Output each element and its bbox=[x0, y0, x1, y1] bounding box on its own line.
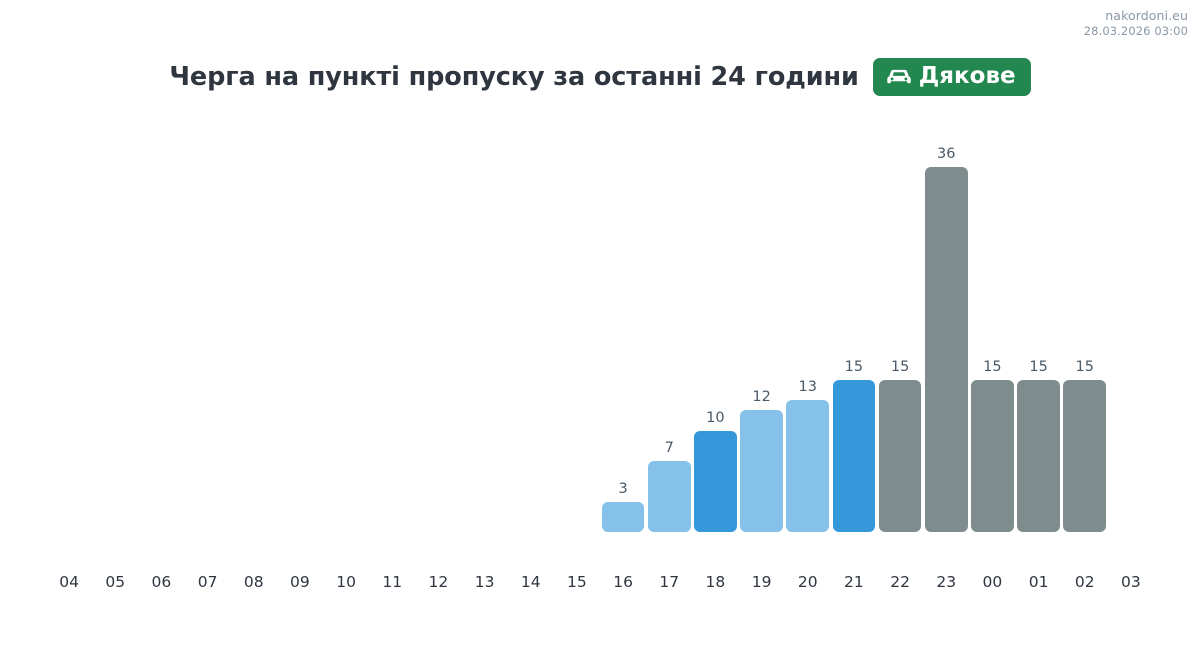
x-axis-tick: 22 bbox=[877, 570, 923, 594]
bar[interactable] bbox=[1063, 380, 1106, 532]
x-axis-tick: 04 bbox=[46, 570, 92, 594]
bar-slot-empty bbox=[92, 132, 138, 532]
bar-slot[interactable]: 36 bbox=[923, 132, 969, 532]
bar-slot-empty bbox=[554, 132, 600, 532]
bar-slot-empty bbox=[138, 132, 184, 532]
checkpoint-badge[interactable]: Дякове bbox=[873, 58, 1031, 96]
x-axis-tick: 10 bbox=[323, 570, 369, 594]
x-axis-tick: 02 bbox=[1062, 570, 1108, 594]
checkpoint-name: Дякове bbox=[919, 65, 1016, 88]
bar[interactable] bbox=[971, 380, 1014, 532]
bar-slot-empty bbox=[231, 132, 277, 532]
bar[interactable] bbox=[1017, 380, 1060, 532]
bar-slot-empty bbox=[323, 132, 369, 532]
bar-slot[interactable]: 15 bbox=[969, 132, 1015, 532]
x-axis-tick: 17 bbox=[646, 570, 692, 594]
x-axis-tick: 14 bbox=[508, 570, 554, 594]
page-title: Черга на пункті пропуску за останні 24 г… bbox=[169, 62, 858, 92]
bar[interactable] bbox=[740, 410, 783, 532]
bar-slot-empty bbox=[46, 132, 92, 532]
bar-value-label: 15 bbox=[1076, 360, 1094, 375]
x-axis-tick: 23 bbox=[923, 570, 969, 594]
bar-slot[interactable]: 3 bbox=[600, 132, 646, 532]
x-axis-tick: 18 bbox=[692, 570, 738, 594]
chart-header: Черга на пункті пропуску за останні 24 г… bbox=[0, 58, 1200, 96]
x-axis-tick: 03 bbox=[1108, 570, 1154, 594]
bar[interactable] bbox=[879, 380, 922, 532]
bar-value-label: 15 bbox=[891, 360, 909, 375]
x-axis-tick: 16 bbox=[600, 570, 646, 594]
x-axis-tick: 19 bbox=[739, 570, 785, 594]
car-icon bbox=[886, 68, 912, 86]
bar[interactable] bbox=[786, 400, 829, 532]
timestamp: 28.03.2026 03:00 bbox=[1084, 24, 1188, 39]
site-name: nakordoni.eu bbox=[1084, 8, 1188, 24]
bar-slot[interactable]: 10 bbox=[692, 132, 738, 532]
x-axis-tick: 09 bbox=[277, 570, 323, 594]
x-axis-tick: 07 bbox=[185, 570, 231, 594]
x-axis-tick: 13 bbox=[462, 570, 508, 594]
bar-value-label: 15 bbox=[1029, 360, 1047, 375]
bar-slot-empty bbox=[185, 132, 231, 532]
x-axis-tick: 12 bbox=[415, 570, 461, 594]
x-axis-tick: 08 bbox=[231, 570, 277, 594]
bar-slot-empty bbox=[462, 132, 508, 532]
x-axis-tick: 05 bbox=[92, 570, 138, 594]
bar-slot-empty bbox=[415, 132, 461, 532]
bar-slot-empty bbox=[277, 132, 323, 532]
bar-slot-empty bbox=[369, 132, 415, 532]
x-axis: 0405060708091011121314151617181920212223… bbox=[46, 570, 1154, 594]
bar-value-label: 10 bbox=[706, 411, 724, 426]
chart-plot-area: 37101213151536151515 bbox=[46, 132, 1154, 532]
bar-slot-empty bbox=[508, 132, 554, 532]
bar-slot[interactable]: 15 bbox=[1016, 132, 1062, 532]
bar-slot[interactable]: 15 bbox=[877, 132, 923, 532]
bar-slot[interactable]: 13 bbox=[785, 132, 831, 532]
bar-value-label: 15 bbox=[983, 360, 1001, 375]
bar[interactable] bbox=[648, 461, 691, 532]
x-axis-tick: 00 bbox=[969, 570, 1015, 594]
bar[interactable] bbox=[925, 167, 968, 532]
x-axis-tick: 21 bbox=[831, 570, 877, 594]
x-axis-tick: 20 bbox=[785, 570, 831, 594]
bar-value-label: 15 bbox=[845, 360, 863, 375]
bar[interactable] bbox=[602, 502, 645, 532]
bar-value-label: 3 bbox=[618, 482, 627, 497]
bar-slot[interactable]: 15 bbox=[1062, 132, 1108, 532]
bar-value-label: 36 bbox=[937, 147, 955, 162]
x-axis-tick: 15 bbox=[554, 570, 600, 594]
x-axis-tick: 01 bbox=[1016, 570, 1062, 594]
bar-slot[interactable]: 12 bbox=[739, 132, 785, 532]
bar-value-label: 13 bbox=[799, 380, 817, 395]
page-meta: nakordoni.eu 28.03.2026 03:00 bbox=[1084, 8, 1188, 39]
bar-value-label: 7 bbox=[665, 441, 674, 456]
x-axis-tick: 11 bbox=[369, 570, 415, 594]
bar[interactable] bbox=[833, 380, 876, 532]
bar[interactable] bbox=[694, 431, 737, 533]
bar-slot[interactable]: 15 bbox=[831, 132, 877, 532]
bar-slot[interactable]: 7 bbox=[646, 132, 692, 532]
bar-chart: 37101213151536151515 bbox=[46, 132, 1154, 532]
bar-slot-empty bbox=[1108, 132, 1154, 532]
x-axis-tick: 06 bbox=[138, 570, 184, 594]
bar-value-label: 12 bbox=[752, 390, 770, 405]
